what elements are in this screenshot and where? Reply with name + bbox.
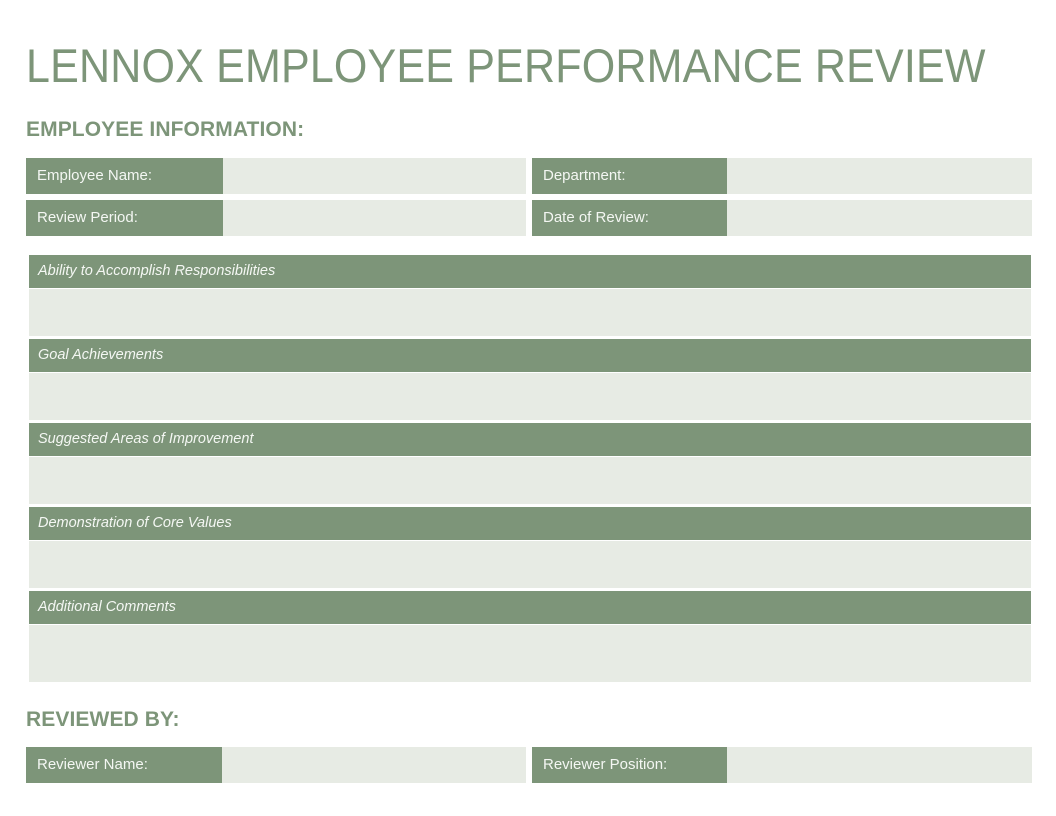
review-sections: Ability to Accomplish Responsibilities G… [29,255,1031,682]
reviewer-position-label: Reviewer Position: [532,747,727,783]
department-label: Department: [532,158,727,194]
section-answer-input[interactable] [29,541,1031,588]
reviewer-name-field: Reviewer Name: [26,747,526,783]
employee-information-table: Employee Name: Department: Review Period… [26,158,1032,236]
section-demonstration-of-core-values: Demonstration of Core Values [29,507,1031,588]
section-ability-to-accomplish-responsibilities: Ability to Accomplish Responsibilities [29,255,1031,336]
date-of-review-input[interactable] [727,200,1032,236]
reviewer-position-field: Reviewer Position: [532,747,1032,783]
section-goal-achievements: Goal Achievements [29,339,1031,420]
table-row: Reviewer Name: Reviewer Position: [26,747,1032,783]
section-header: Ability to Accomplish Responsibilities [29,255,1031,288]
reviewed-by-heading: REVIEWED BY: [26,707,180,733]
employee-information-heading: EMPLOYEE INFORMATION: [26,117,304,143]
reviewer-position-input[interactable] [727,747,1032,783]
department-input[interactable] [727,158,1032,194]
review-period-field: Review Period: [26,200,526,236]
section-header: Goal Achievements [29,339,1031,372]
section-answer-input[interactable] [29,373,1031,420]
section-header: Suggested Areas of Improvement [29,423,1031,456]
table-row: Employee Name: Department: [26,158,1032,194]
review-period-input[interactable] [223,200,526,236]
date-of-review-label: Date of Review: [532,200,727,236]
section-header: Additional Comments [29,591,1031,624]
employee-name-label: Employee Name: [26,158,223,194]
employee-name-input[interactable] [223,158,526,194]
performance-review-document: LENNOX EMPLOYEE PERFORMANCE REVIEW EMPLO… [0,0,1056,816]
review-period-label: Review Period: [26,200,223,236]
section-answer-input[interactable] [29,625,1031,682]
reviewer-name-input[interactable] [222,747,526,783]
date-of-review-field: Date of Review: [532,200,1032,236]
reviewer-name-label: Reviewer Name: [26,747,222,783]
department-field: Department: [532,158,1032,194]
section-suggested-areas-of-improvement: Suggested Areas of Improvement [29,423,1031,504]
section-header: Demonstration of Core Values [29,507,1031,540]
page-title: LENNOX EMPLOYEE PERFORMANCE REVIEW [26,38,986,94]
section-answer-input[interactable] [29,289,1031,336]
section-answer-input[interactable] [29,457,1031,504]
reviewed-by-table: Reviewer Name: Reviewer Position: [26,747,1032,783]
section-additional-comments: Additional Comments [29,591,1031,682]
table-row: Review Period: Date of Review: [26,200,1032,236]
employee-name-field: Employee Name: [26,158,526,194]
